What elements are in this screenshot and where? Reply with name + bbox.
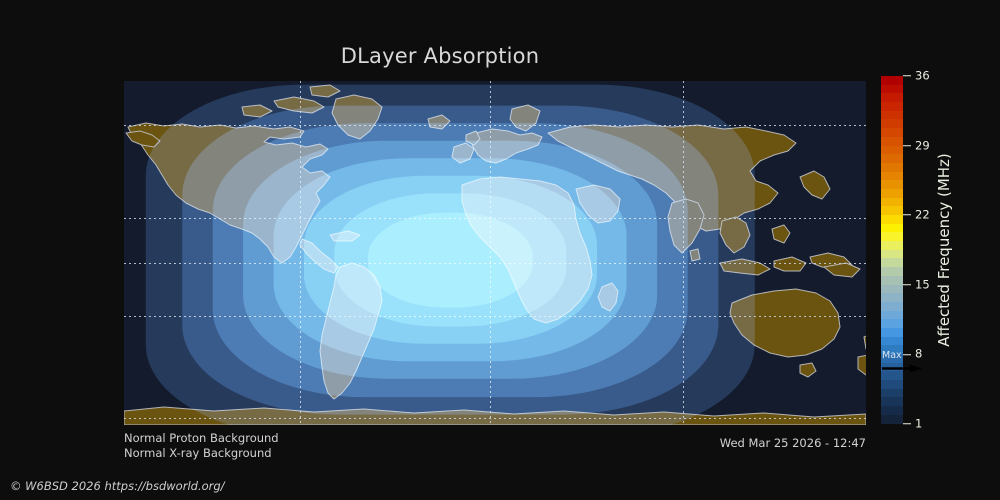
colorbar-segment xyxy=(881,337,903,346)
colorbar-axis-label: Affected Frequency (MHz) xyxy=(933,76,955,424)
absorption-band xyxy=(368,213,532,308)
colorbar-segment xyxy=(881,180,903,189)
colorbar-segment xyxy=(881,319,903,328)
colorbar-tick-dash xyxy=(903,215,911,216)
colorbar-segment xyxy=(881,241,903,250)
colorbar-tick-value: 36 xyxy=(915,70,930,82)
colorbar-tick-value: 29 xyxy=(915,140,930,152)
max-marker-label: Max xyxy=(882,351,902,361)
timestamp: Wed Mar 25 2026 - 12:47 xyxy=(600,436,866,450)
colorbar-segment xyxy=(881,389,903,398)
proton-background-note: Normal Proton Background xyxy=(124,431,279,445)
colorbar-segment xyxy=(881,146,903,155)
colorbar-tick: 22 xyxy=(903,209,930,221)
colorbar-segment xyxy=(881,76,903,85)
colorbar-tick: 36 xyxy=(903,70,930,82)
colorbar-segment xyxy=(881,111,903,120)
colorbar-segment xyxy=(881,406,903,415)
colorbar-segment xyxy=(881,276,903,285)
colorbar-tick: 1 xyxy=(903,418,922,430)
xray-background-note: Normal X-ray Background xyxy=(124,446,272,460)
colorbar-segment xyxy=(881,172,903,181)
colorbar-tick: 29 xyxy=(903,140,930,152)
colorbar-tick-value: 1 xyxy=(915,418,922,430)
colorbar-segment xyxy=(881,302,903,311)
colorbar-segment xyxy=(881,206,903,215)
colorbar-segment xyxy=(881,85,903,94)
colorbar-segment xyxy=(881,293,903,302)
colorbar-segment xyxy=(881,93,903,102)
colorbar-tick: 15 xyxy=(903,279,930,291)
colorbar-segment xyxy=(881,102,903,111)
colorbar-segment xyxy=(881,189,903,198)
colorbar-segment xyxy=(881,163,903,172)
colorbar-tick-dash xyxy=(903,284,911,285)
colorbar-segment xyxy=(881,128,903,137)
world-map-panel[interactable] xyxy=(124,81,866,425)
colorbar-segment xyxy=(881,224,903,233)
colorbar-tick-dash xyxy=(903,424,911,425)
colorbar-tick-value: 22 xyxy=(915,209,930,221)
page-title: DLayer Absorption xyxy=(0,44,880,68)
colorbar-tick-dash xyxy=(903,76,911,77)
credit-line: © W6BSD 2026 https://bsdworld.org/ xyxy=(10,479,225,493)
colorbar-segment xyxy=(881,380,903,389)
colorbar-tick-dash xyxy=(903,145,911,146)
colorbar-segment xyxy=(881,198,903,207)
colorbar-segment xyxy=(881,215,903,224)
colorbar-segment xyxy=(881,154,903,163)
colorbar-tick-value: 15 xyxy=(915,279,930,291)
colorbar-segment xyxy=(881,397,903,406)
colorbar-axis-label-text: Affected Frequency (MHz) xyxy=(935,153,953,347)
colorbar-segment xyxy=(881,232,903,241)
colorbar-segment xyxy=(881,250,903,259)
colorbar-segment xyxy=(881,311,903,320)
max-value-marker: Max xyxy=(881,351,927,375)
colorbar-segment xyxy=(881,258,903,267)
colorbar-segment xyxy=(881,267,903,276)
colorbar-segment xyxy=(881,415,903,424)
colorbar-segment xyxy=(881,328,903,337)
colorbar-segment xyxy=(881,119,903,128)
colorbar-segment xyxy=(881,137,903,146)
max-marker-arrow-icon xyxy=(882,364,922,373)
colorbar-segment xyxy=(881,285,903,294)
dlayer-absorption-map-view: DLayer Absorption xyxy=(0,0,1000,500)
